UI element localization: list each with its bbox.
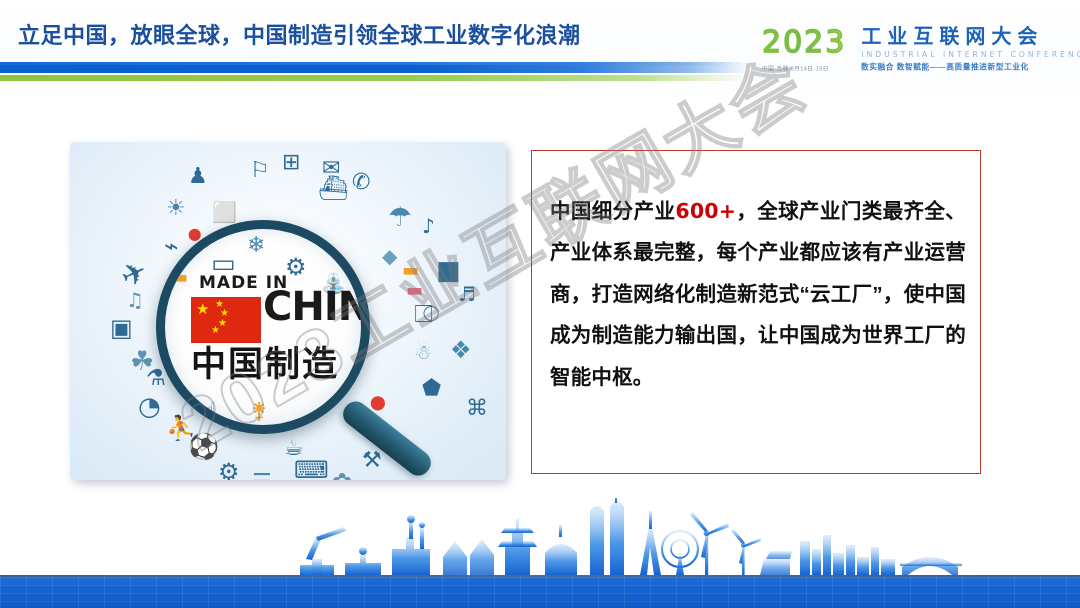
presentation-slide: 立足中国，放眼全球，中国制造引领全球工业数字化浪潮 2023 中国·吉林 8月1… [0,0,1080,608]
product-icon: ☂ [388,204,412,231]
header-blue-bar [0,62,748,73]
bottom-decoration [0,498,1080,608]
logo-main-title: 工业互联网大会 [861,27,1080,48]
product-icon: ⌁ [164,234,178,258]
product-icon: ✿ [332,470,352,480]
product-icon: ☰ [252,472,272,480]
ground-plane [0,575,1080,608]
product-icon: ✆ [352,172,370,194]
industrial-skyline-icon [0,498,1080,577]
statement-suffix: ，全球产业门类最齐全、产业体系最完整，每个产业都应该有产业运营商，打造网络化制造… [550,200,966,389]
flag-star-large-icon: ★ [196,302,209,317]
product-icon: ❄ [247,235,265,257]
conference-logo: 2023 中国·吉林 8月14日-15日 工业互联网大会 INDUSTRIAL … [762,28,1072,86]
product-icon: ⌨ [294,458,329,480]
product-icon: ⬤ [188,228,201,240]
product-icon: ☃ [414,342,432,362]
china-label: CHINA [263,287,370,327]
product-icon: ♪ [422,216,435,236]
product-icon: ⚵ [251,401,267,423]
product-icon: ❖ [450,338,472,362]
product-icon: ☝ [203,401,216,423]
product-icon: ◔ [138,394,161,420]
ground-grid [0,577,1080,608]
logo-year: 2023 [762,28,846,58]
product-icon: ▣ [110,316,133,340]
statement-prefix: 中国细分产业 [550,200,675,223]
product-icon: ▬ [402,262,419,280]
statement-highlight: 600+ [675,199,736,223]
product-icon: ▬ [171,269,188,287]
made-in-china-image: ✈☀♟☘▣⌁☕⚽♫⌨◔⚒⚙☂♪✆✉■⎄❖⬟♬◆⌘⬤⬤▬▬⛴⚐⊞⬜⛹⚗☰✿⛰☃ ⚙… [70,142,506,480]
product-icon: ♬ [458,284,476,304]
statement-box: 中国细分产业600+，全球产业门类最齐全、产业体系最完整，每个产业都应该有产业运… [531,150,981,474]
flag-star-small-icon: ★ [211,326,220,336]
logo-year-block: 2023 中国·吉林 8月14日-15日 [762,28,846,73]
product-icon: ⚗ [146,368,166,390]
china-flag-icon: ★ ★ ★ ★ ★ [191,297,261,343]
page-title: 立足中国，放眼全球，中国制造引领全球工业数字化浪潮 [18,18,581,50]
product-icon: ▬ [406,282,423,300]
product-icon: ⚙ [218,460,240,480]
product-icon: ⬟ [422,378,441,400]
statement-text: 中国细分产业600+，全球产业门类最齐全、产业体系最完整，每个产业都应该有产业运… [550,191,966,398]
header-green-bar [0,75,748,81]
magnifier-lens-icon: ⚙▭❄⛲⬤▬⚵☝ MADE IN ★ ★ ★ ★ ★ CHINA 中国制造 [156,220,370,434]
product-icon: ⬤ [323,239,339,253]
product-icon: ⊞ [282,152,300,174]
product-icon: ⛹ [166,416,196,440]
logo-date-location: 中国·吉林 8月14日-15日 [762,64,842,73]
zhongguo-zhizao-label: 中国制造 [191,347,339,382]
product-icon: ⬤ [370,396,386,410]
product-icon: ■ [436,258,461,284]
product-icon: ⚒ [362,450,382,472]
logo-text-block: 工业互联网大会 INDUSTRIAL INTERNET CONFERENCE 数… [861,27,1080,73]
logo-english-title: INDUSTRIAL INTERNET CONFERENCE [861,50,1080,59]
product-icon: ⬜ [212,202,237,222]
slide-header: 立足中国，放眼全球，中国制造引领全球工业数字化浪潮 2023 中国·吉林 8月1… [0,0,1080,100]
product-icon: ♫ [126,290,144,310]
product-icon: ♟ [188,166,208,188]
product-icon: ⎄ [414,302,439,326]
product-icon: ⛴ [318,176,348,200]
product-icon: ☀ [166,198,186,220]
product-icon: ⚐ [250,160,270,182]
logo-subtitle: 数实融合 数智赋能——高质量推进新型工业化 [861,62,1080,73]
product-icon: ◆ [382,246,397,266]
product-icon: ⌘ [466,398,488,420]
